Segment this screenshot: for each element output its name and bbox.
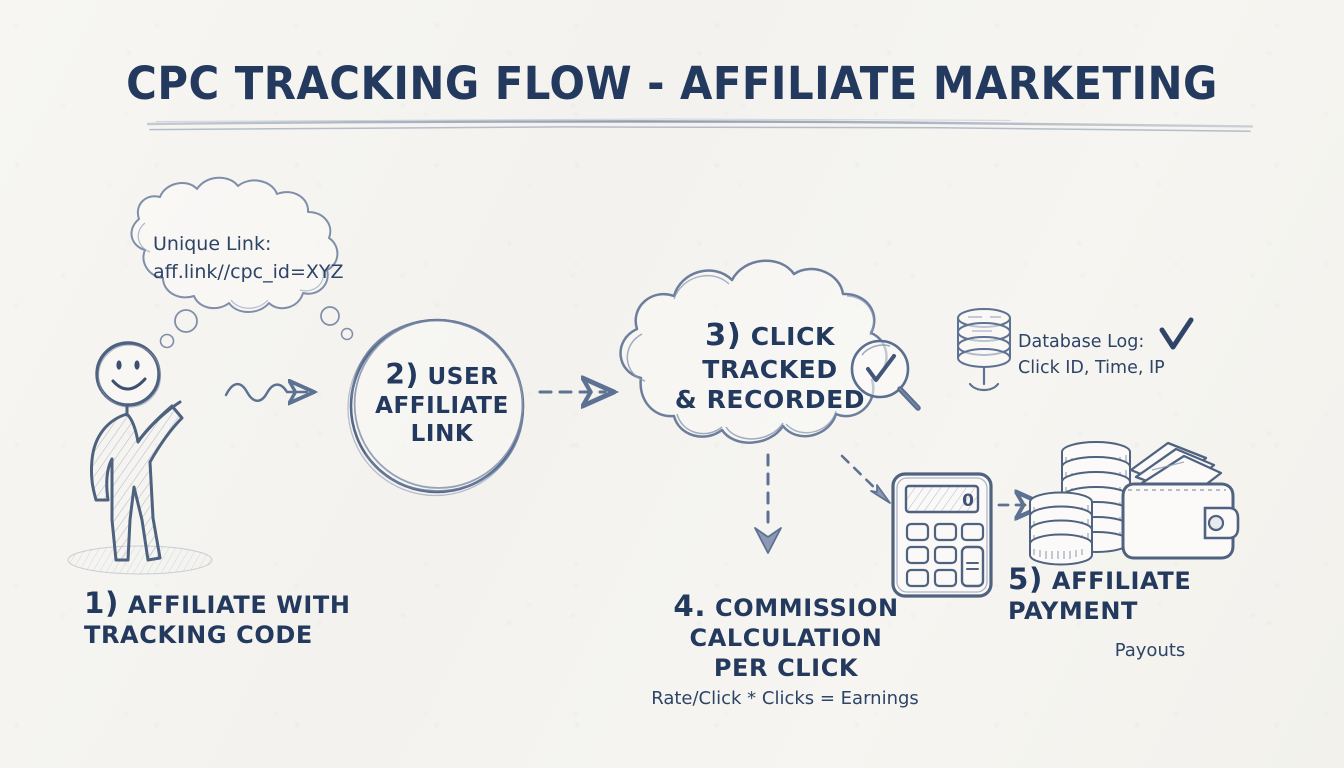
step2-line-3: LINK [352,420,532,448]
step3-number: 3) [705,318,741,353]
step1-label: 1) AFFILIATE WITH TRACKING CODE [84,586,384,650]
thought-bubble-text: Unique Link: aff.link//cpc_id=XYZ [153,231,393,286]
step5-sub-label: Payouts [1060,640,1240,661]
step1-number: 1) [84,586,119,620]
step5-number: 5) [1008,562,1043,596]
step4-formula: Rate/Click * Clicks = Earnings [620,688,950,709]
stick-figure-person-icon [68,343,212,574]
step2-line-1: USER [428,364,499,390]
diagram-canvas: 0 [0,0,1344,768]
step4-line-1: COMMISSION [715,594,899,622]
database-log-line-2: Click ID, Time, IP [1018,355,1218,381]
step4-number: 4. [673,589,706,623]
step2-number: 2) [385,358,419,391]
step4-line-2: CALCULATION [626,624,946,654]
step5-label: 5) AFFILIATE PAYMENT [1008,562,1238,626]
database-cylinder-icon [958,309,1010,390]
database-log-line-1: Database Log: [1018,329,1218,355]
step1-line-1: AFFILIATE WITH [128,591,351,619]
database-log-text: Database Log: Click ID, Time, IP [1018,329,1218,382]
step3-label: 3) CLICK TRACKED & RECORDED [640,318,900,415]
title-underline [148,119,1252,131]
step4-line-3: PER CLICK [626,654,946,684]
step3-line-3: & RECORDED [640,385,900,415]
calculator-display-value: 0 [962,491,974,511]
step1-line-2: TRACKING CODE [84,621,384,650]
thought-bubble-line-2: aff.link//cpc_id=XYZ [153,259,393,287]
step4-label: 4. COMMISSION CALCULATION PER CLICK [626,588,946,683]
step2-line-2: AFFILIATE [352,392,532,420]
step5-line-2: PAYMENT [1008,597,1238,626]
thought-bubble-line-1: Unique Link: [153,231,393,259]
dashed-arrow-cloud-to-calculator [842,456,890,503]
step5-line-1: AFFILIATE [1052,567,1191,595]
coins-wallet-icon [1030,442,1238,565]
step3-line-1: CLICK [751,322,835,351]
squiggle-arrow-person-to-circle [226,384,307,401]
dashed-arrow-cloud-to-commission [755,455,781,553]
step2-label: 2) USER AFFILIATE LINK [352,358,532,448]
step3-line-2: TRACKED [640,355,900,385]
calculator-icon: 0 [893,474,991,596]
page-title: CPC TRACKING FLOW - AFFILIATE MARKETING [47,57,1297,110]
